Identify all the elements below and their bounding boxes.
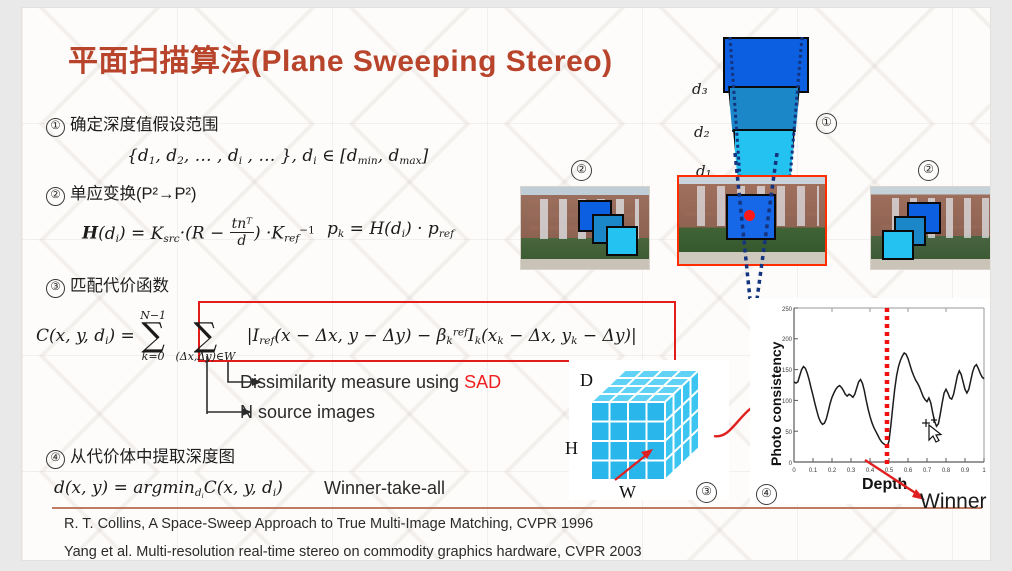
right-view-callout: ② <box>918 160 944 181</box>
depth-label-d3: d₃ <box>692 80 708 98</box>
svg-text:0: 0 <box>792 468 796 474</box>
step-1-marker: ① <box>46 118 65 137</box>
winner-label: Winner <box>920 490 987 514</box>
left-source-view: ② <box>520 164 650 248</box>
slide-canvas: 平面扫描算法(Plane Sweeping Stereo) ①确定深度值假设范围… <box>22 8 990 560</box>
svg-text:50: 50 <box>785 430 792 436</box>
left-view-patch-d1 <box>606 226 638 256</box>
right-view-patch-d1 <box>882 230 914 260</box>
n-source-images-annotation: N source images <box>240 402 375 423</box>
svg-text:0.8: 0.8 <box>942 468 951 474</box>
step-3-marker: ③ <box>46 279 65 298</box>
equation-point-mapping: pk = H(di) · pref <box>327 219 454 240</box>
sad-metric: SAD <box>464 372 501 392</box>
outer-sum: N−1 ∑ k=0 <box>140 310 166 363</box>
cost-volume-label-width: W <box>619 482 636 503</box>
step-4-marker: ④ <box>46 450 65 469</box>
step-2-label: 单应变换(P²→P²) <box>70 185 197 203</box>
dissimilarity-annotation: Dissimilarity measure using SAD <box>240 372 501 393</box>
move-cursor <box>920 416 950 451</box>
svg-text:200: 200 <box>782 337 793 343</box>
equation-argmin: d(x, y) = argmindiC(x, y, di) <box>54 478 283 500</box>
equation-cost: C(x, y, di) = N−1 ∑ k=0 ∑ (Δx,Δy)∈W |Ire… <box>36 310 637 363</box>
reference-view <box>677 175 827 266</box>
reference-2: Yang et al. Multi-resolution real-time s… <box>64 544 642 560</box>
svg-text:0.2: 0.2 <box>828 468 837 474</box>
winner-take-all-label: Winner-take-all <box>324 478 445 499</box>
cost-volume-label-height: H <box>565 438 578 459</box>
reference-divider <box>52 507 982 509</box>
step-1-label: 确定深度值假设范围 <box>70 116 219 134</box>
svg-text:0.1: 0.1 <box>809 468 818 474</box>
equation-homography: H(di) = Ksrc·(R − tnTd) ·Kref−1 <box>82 216 315 249</box>
step-2-marker: ② <box>46 187 65 206</box>
svg-text:0.3: 0.3 <box>847 468 856 474</box>
page-title: 平面扫描算法(Plane Sweeping Stereo) <box>68 36 613 80</box>
cost-volume-callout: ③ <box>696 482 722 503</box>
step-3-label: 匹配代价函数 <box>70 277 169 295</box>
plot-callout: ④ <box>756 484 782 505</box>
equation-depth-set: {d1, d2, … , di , … }, di ∈ [dmin, dmax] <box>127 146 428 167</box>
cost-volume-label-depth: D <box>580 370 593 391</box>
step-4-label: 从代价体中提取深度图 <box>70 448 235 466</box>
depth-label-d2: d₂ <box>694 123 710 141</box>
step-1: ①确定深度值假设范围 <box>46 111 219 137</box>
step-3: ③匹配代价函数 <box>46 272 169 298</box>
svg-text:0.9: 0.9 <box>961 468 970 474</box>
step-2: ②单应变换(P²→P²) <box>46 180 197 206</box>
dissimilarity-prefix: Dissimilarity measure using <box>240 372 464 392</box>
right-source-view: ② <box>870 164 990 248</box>
svg-text:0: 0 <box>789 461 793 467</box>
frustum-callout: ① <box>816 113 842 134</box>
svg-text:1: 1 <box>982 468 986 474</box>
step-4: ④从代价体中提取深度图 <box>46 443 235 469</box>
reference-1: R. T. Collins, A Space-Sweep Approach to… <box>64 516 593 532</box>
svg-text:100: 100 <box>782 399 793 405</box>
cost-volume-figure: D H W ③ <box>557 360 732 505</box>
left-view-callout: ② <box>571 160 597 181</box>
reference-rays <box>717 153 797 303</box>
svg-text:250: 250 <box>782 307 793 313</box>
svg-text:150: 150 <box>782 368 793 374</box>
